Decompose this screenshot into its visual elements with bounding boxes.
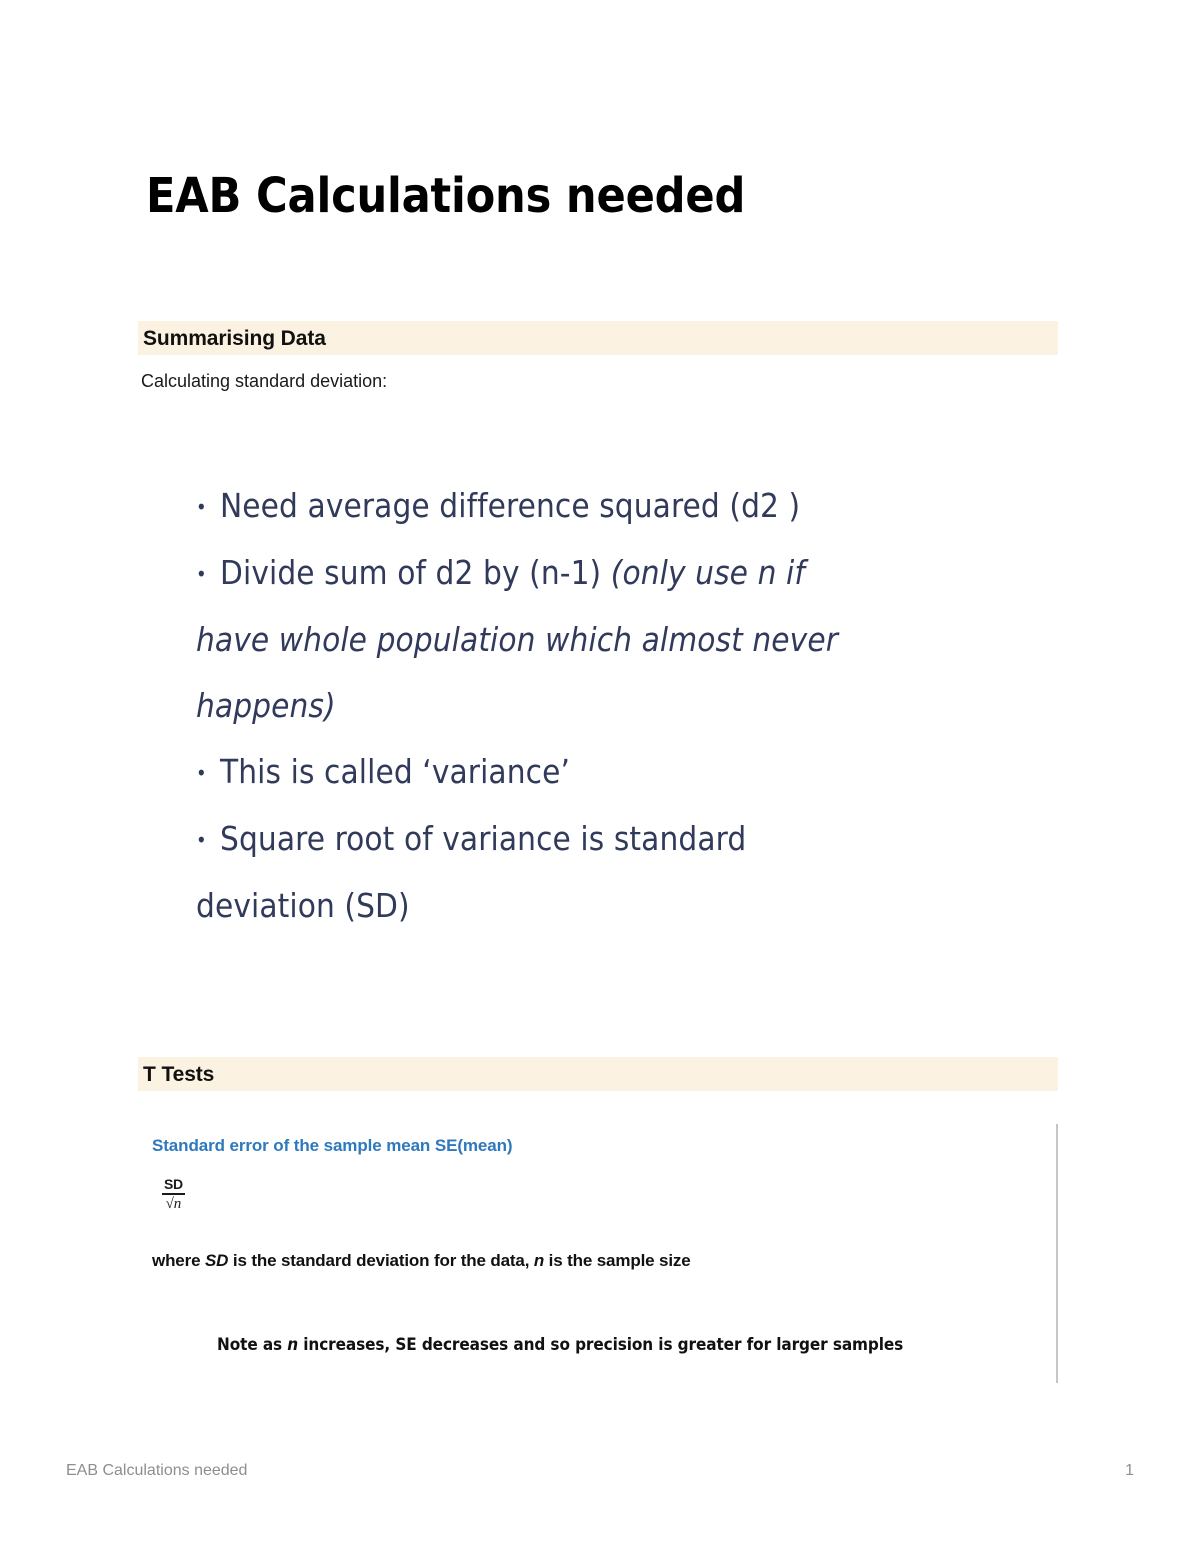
document-page: EAB Calculations needed Summarising Data… (0, 0, 1200, 1553)
formula-fraction-bar (162, 1193, 185, 1195)
slide-bullet-text: Need average difference squared (d2 ) (220, 486, 800, 525)
note-symbol-n: n (287, 1335, 298, 1355)
slide-bullet-line: •This is called ‘variance’ (196, 739, 1026, 806)
page-title: EAB Calculations needed (146, 170, 745, 224)
slide-continuation-text: happens) (196, 686, 336, 725)
section-heading-label: Summarising Data (143, 328, 326, 349)
section-header-summarising-data: Summarising Data (138, 321, 1058, 355)
formula-denominator: √n (162, 1197, 185, 1213)
bullet-dot-icon: • (196, 541, 220, 607)
where-suffix: is the sample size (544, 1251, 690, 1270)
formula-se-mean: SD √n (162, 1177, 185, 1212)
slide-bullet-text: Divide sum of d2 by (n-1) (220, 553, 611, 592)
bullet-dot-icon: • (196, 807, 220, 873)
slide-bullet-block: •Need average difference squared (d2 ) •… (196, 473, 1026, 939)
slide-bullet-italic-tail: (only use n if (611, 553, 805, 592)
slide-continuation-line: happens) (196, 673, 1026, 739)
slide-bullet-line: •Need average difference squared (d2 ) (196, 473, 1026, 540)
slide-bullet-line: •Divide sum of d2 by (n-1) (only use n i… (196, 540, 1026, 607)
slide-bullet-text: Square root of variance is standard (220, 819, 746, 858)
t-tests-figure: Standard error of the sample mean SE(mea… (141, 1124, 1058, 1383)
page-footer: EAB Calculations needed 1 (66, 1462, 1134, 1480)
footer-document-name: EAB Calculations needed (66, 1462, 247, 1480)
footer-page-number: 1 (1125, 1462, 1134, 1480)
slide-continuation-text: have whole population which almost never (196, 620, 838, 659)
figure-note: Note as n increases, SE decreases and so… (217, 1335, 903, 1355)
where-symbol-n: n (534, 1251, 544, 1270)
slide-bullet-text: This is called ‘variance’ (220, 752, 570, 791)
slide-continuation-line: have whole population which almost never (196, 607, 1026, 673)
bullet-dot-icon: • (196, 474, 220, 540)
note-prefix: Note as (217, 1335, 287, 1355)
section-heading-label: T Tests (143, 1064, 214, 1085)
bullet-dot-icon: • (196, 740, 220, 806)
where-prefix: where (152, 1251, 205, 1270)
figure-heading-standard-error: Standard error of the sample mean SE(mea… (152, 1136, 512, 1156)
figure-where-definition: where SD is the standard deviation for t… (152, 1251, 691, 1271)
note-suffix: increases, SE decreases and so precision… (298, 1335, 903, 1355)
where-mid: is the standard deviation for the data, (228, 1251, 534, 1270)
slide-continuation-text: deviation (SD) (196, 886, 410, 925)
slide-continuation-line: deviation (SD) (196, 873, 1026, 939)
slide-bullet-line: •Square root of variance is standard (196, 806, 1026, 873)
where-symbol-sd: SD (205, 1251, 228, 1270)
lead-paragraph-calculating-standard-deviation: Calculating standard deviation: (141, 372, 387, 390)
section-header-t-tests: T Tests (138, 1057, 1058, 1091)
formula-numerator: SD (162, 1177, 185, 1193)
